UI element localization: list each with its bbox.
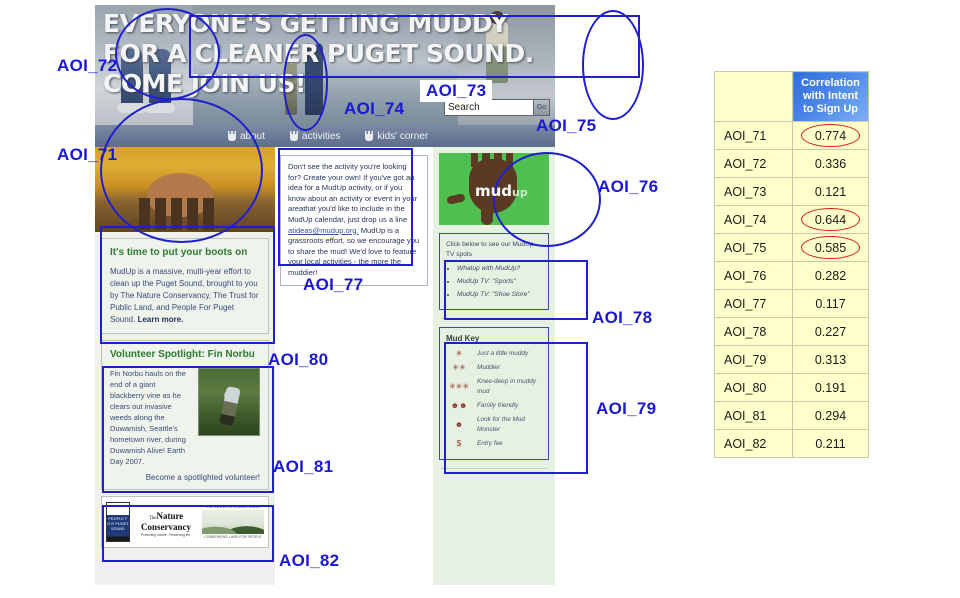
table-row: AOI_710.774 [715,122,869,150]
nav-item-activities[interactable]: activities [289,131,340,142]
table-cell-aoi: AOI_78 [715,318,793,346]
aoi-78-region [444,260,588,320]
aoi-77-region [278,148,413,266]
search-go-button[interactable]: Go [533,100,549,115]
table-row: AOI_730.121 [715,178,869,206]
table-cell-correlation: 0.191 [793,374,869,402]
aoi-80-region [100,226,275,344]
table-cell-correlation: 0.117 [793,290,869,318]
red-oval-highlight [801,124,860,147]
aoi-75-region [582,10,644,120]
aoi-label-72: AOI_72 [57,56,117,76]
nav-label: activities [302,131,340,142]
table-row: AOI_740.644 [715,206,869,234]
table-body: AOI_710.774AOI_720.336AOI_730.121AOI_740… [715,122,869,458]
aoi-label-82: AOI_82 [279,551,339,571]
table-cell-aoi: AOI_71 [715,122,793,150]
aoi-label-71: AOI_71 [57,145,117,165]
aoi-label-80: AOI_80 [268,350,328,370]
table-cell-correlation: 0.313 [793,346,869,374]
aoi-label-77: AOI_77 [303,275,363,295]
nav-item-kids-corner[interactable]: kids' corner [364,131,428,142]
aoi-label-76: AOI_76 [598,177,658,197]
table-cell-aoi: AOI_82 [715,430,793,458]
table-cell-correlation: 0.294 [793,402,869,430]
table-row: AOI_820.211 [715,430,869,458]
aoi-82-region [102,505,274,562]
table-row: AOI_810.294 [715,402,869,430]
mudup-mud: mud [475,182,512,200]
aoi-label-79: AOI_79 [596,399,656,419]
red-oval-highlight [801,208,860,231]
table-cell-correlation: 0.227 [793,318,869,346]
aoi-label-73: AOI_73 [420,80,492,102]
table-cell-aoi: AOI_81 [715,402,793,430]
hand-icon [364,131,374,142]
table-cell-aoi: AOI_75 [715,234,793,262]
mudup-up: up [512,186,528,199]
aoi-label-74: AOI_74 [344,99,404,119]
red-oval-highlight [801,236,860,259]
table-cell-correlation: 0.585 [793,234,869,262]
table-cell-correlation: 0.211 [793,430,869,458]
aoi-label-78: AOI_78 [592,308,652,328]
aoi-74-region [283,34,328,131]
table-corner-cell [715,72,793,122]
table-row: AOI_780.227 [715,318,869,346]
table-row: AOI_760.282 [715,262,869,290]
table-cell-correlation: 0.336 [793,150,869,178]
table-cell-aoi: AOI_80 [715,374,793,402]
table-row: AOI_800.191 [715,374,869,402]
table-row: AOI_790.313 [715,346,869,374]
table-row: AOI_750.585 [715,234,869,262]
aoi-73-region [189,15,640,78]
table-cell-aoi: AOI_76 [715,262,793,290]
search-input[interactable]: Search [445,100,533,115]
table-cell-correlation: 0.774 [793,122,869,150]
table-header-row: Correlation with Intent to Sign Up [715,72,869,122]
table-cell-aoi: AOI_73 [715,178,793,206]
aoi-79-region [444,342,588,474]
nav-label: kids' corner [377,131,428,142]
mud-thumb-icon [446,193,465,205]
hand-icon [289,131,299,142]
table-header-correlation: Correlation with Intent to Sign Up [793,72,869,122]
table-row: AOI_770.117 [715,290,869,318]
mudup-wordmark: mudup [475,181,528,200]
aoi-81-region [102,366,274,493]
table-row: AOI_720.336 [715,150,869,178]
aoi-label-81: AOI_81 [273,457,333,477]
spotlight-heading: Volunteer Spotlight: Fin Norbu [110,348,260,362]
table-cell-aoi: AOI_72 [715,150,793,178]
table-cell-aoi: AOI_74 [715,206,793,234]
correlation-table: Correlation with Intent to Sign Up AOI_7… [714,71,869,458]
table-cell-correlation: 0.644 [793,206,869,234]
aoi-71-region [100,98,263,243]
table-cell-correlation: 0.282 [793,262,869,290]
table-cell-aoi: AOI_77 [715,290,793,318]
aoi-label-75: AOI_75 [536,116,596,136]
table-cell-aoi: AOI_79 [715,346,793,374]
table-cell-correlation: 0.121 [793,178,869,206]
